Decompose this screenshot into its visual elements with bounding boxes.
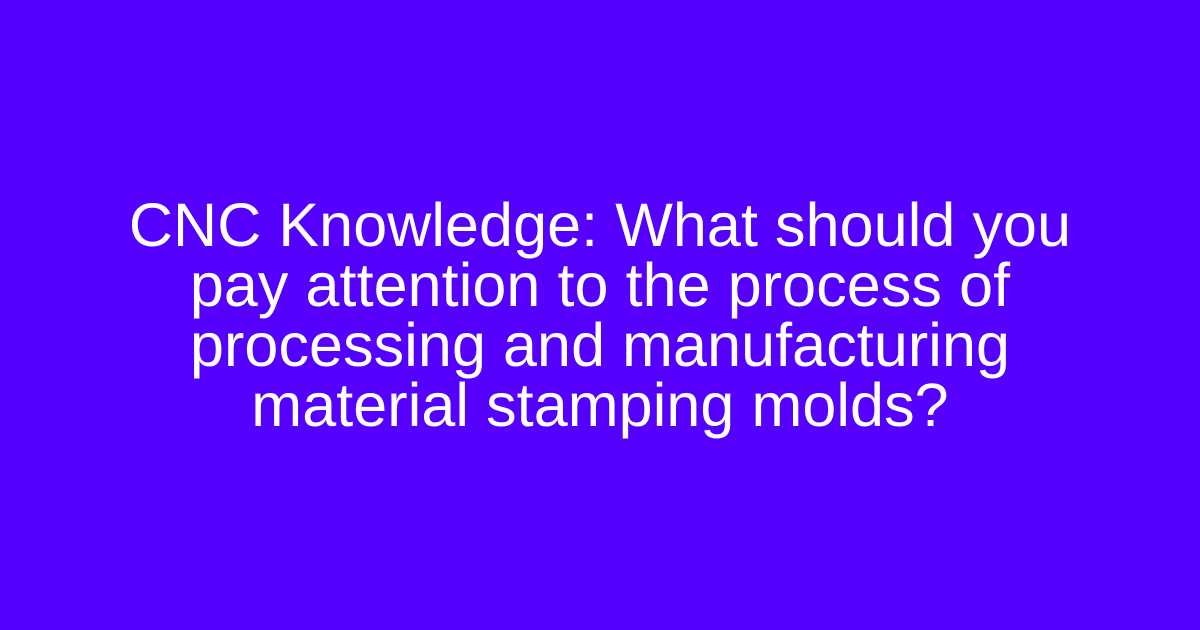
title-block: CNC Knowledge: What should you pay atten… <box>80 195 1120 435</box>
share-card: CNC Knowledge: What should you pay atten… <box>0 0 1200 630</box>
page-title: CNC Knowledge: What should you pay atten… <box>100 195 1100 435</box>
